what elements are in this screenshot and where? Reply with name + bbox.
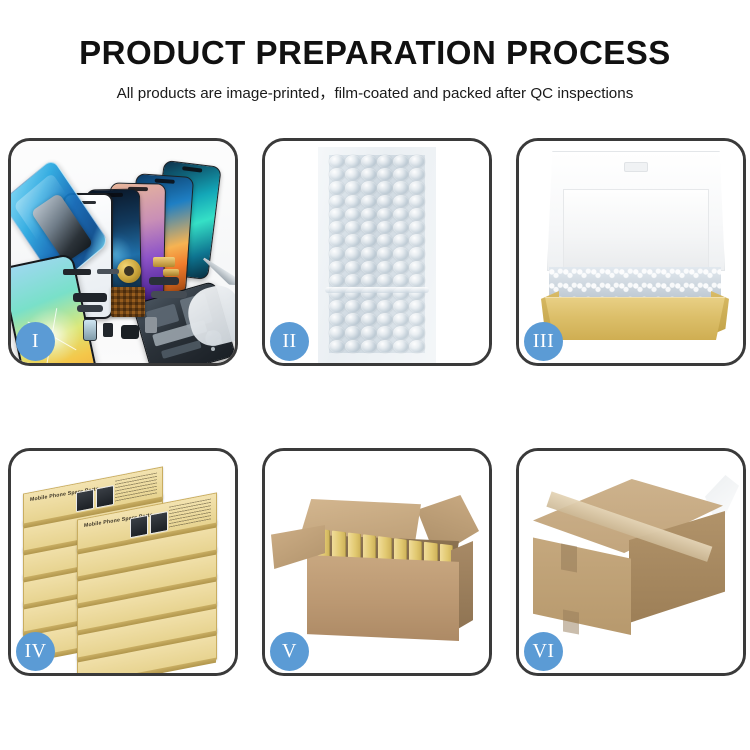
bubble: [393, 195, 409, 208]
step-badge-2: II: [270, 322, 309, 361]
bubble: [345, 313, 361, 326]
carton-body: [307, 555, 459, 641]
bubble: [393, 313, 409, 326]
bubble: [409, 261, 425, 274]
bubble: [377, 168, 393, 181]
bubble: [361, 326, 377, 339]
step-badge-4: IV: [16, 632, 55, 671]
bubble: [409, 195, 425, 208]
carton-tab: [561, 543, 577, 572]
bubble: [377, 181, 393, 194]
box-screen-artwork: [96, 485, 114, 508]
bubble: [329, 208, 345, 221]
bubble: [345, 247, 361, 260]
box-screen-artwork: [76, 489, 94, 512]
bubble: [329, 168, 345, 181]
bubble: [361, 221, 377, 234]
bubble: [345, 300, 361, 313]
bubble: [361, 313, 377, 326]
bubble: [393, 340, 409, 353]
kraft-inner-box: [545, 297, 725, 340]
box-screen-artwork: [150, 511, 168, 534]
bubble: [393, 208, 409, 221]
step-badge-3: III: [524, 322, 563, 361]
step-badge-5: V: [270, 632, 309, 671]
notch-icon: [182, 166, 202, 172]
bubble: [329, 221, 345, 234]
mesh-board-part: [111, 287, 145, 317]
step-badge-1: I: [16, 322, 55, 361]
flex-cable-part: [73, 293, 107, 302]
flex-cable-part: [77, 305, 103, 312]
bubble: [409, 326, 425, 339]
step-panel-6[interactable]: VI: [516, 448, 746, 676]
process-grid: I II III Mobile Phone Spare Par: [8, 138, 742, 678]
bubble: [377, 221, 393, 234]
page-title: PRODUCT PREPARATION PROCESS: [0, 36, 750, 69]
vibrator-coil-part: [117, 259, 141, 283]
bubble: [361, 274, 377, 287]
bubble: [329, 181, 345, 194]
step-panel-1[interactable]: I: [8, 138, 238, 366]
page-subtitle: All products are image-printed，film-coat…: [0, 86, 750, 101]
bubble: [393, 221, 409, 234]
box-screen-artwork: [130, 515, 148, 538]
bubble: [329, 340, 345, 353]
bubble: [329, 261, 345, 274]
bubble: [409, 168, 425, 181]
bubble: [377, 313, 393, 326]
button-part: [103, 323, 113, 337]
bubble: [393, 234, 409, 247]
lid-tab: [624, 162, 648, 172]
bubble-wrapped-item: [549, 267, 721, 301]
bubble: [377, 195, 393, 208]
bubble: [345, 181, 361, 194]
bubble: [329, 247, 345, 260]
bubble: [345, 261, 361, 274]
bubble: [345, 274, 361, 287]
carton-tab: [563, 609, 579, 634]
bubble: [345, 326, 361, 339]
bubble: [329, 274, 345, 287]
bubble: [409, 313, 425, 326]
bubble: [329, 195, 345, 208]
bubble: [393, 155, 409, 168]
bubble: [409, 300, 425, 313]
flex-cable-part: [149, 277, 179, 285]
bubble: [409, 247, 425, 260]
bubble: [409, 234, 425, 247]
screw-part: [211, 347, 215, 351]
bubble: [377, 155, 393, 168]
bubble: [361, 155, 377, 168]
bubble: [345, 195, 361, 208]
bubble: [393, 326, 409, 339]
bubble: [377, 340, 393, 353]
bubble: [361, 208, 377, 221]
bubble: [409, 274, 425, 287]
white-foam-sheet: [563, 189, 709, 275]
flex-cable-part: [151, 291, 187, 298]
gold-connector-part: [163, 269, 179, 276]
bubble-wrap-bubbles: [329, 155, 425, 353]
bubble: [329, 326, 345, 339]
bubble: [393, 300, 409, 313]
step-panel-2[interactable]: II: [262, 138, 492, 366]
bubble: [361, 261, 377, 274]
bubble: [393, 274, 409, 287]
wrap-seam: [325, 287, 429, 293]
speaker-bar-part: [63, 269, 91, 275]
bubble: [409, 181, 425, 194]
camera-module-part: [83, 319, 97, 341]
bubble: [361, 340, 377, 353]
bubble: [409, 340, 425, 353]
step-badge-6: VI: [524, 632, 563, 671]
bubble: [345, 155, 361, 168]
bubble: [345, 234, 361, 247]
bubble: [361, 234, 377, 247]
step-panel-5[interactable]: V: [262, 448, 492, 676]
bubble: [393, 247, 409, 260]
bubble: [329, 155, 345, 168]
bubble: [345, 221, 361, 234]
bubble: [377, 208, 393, 221]
bubble: [393, 181, 409, 194]
bubble: [377, 274, 393, 287]
bubble: [377, 300, 393, 313]
bubble: [409, 208, 425, 221]
bubble: [361, 300, 377, 313]
step-panel-3[interactable]: III: [516, 138, 746, 366]
bubble: [409, 221, 425, 234]
bubble: [377, 261, 393, 274]
bubble: [377, 326, 393, 339]
bubble: [361, 168, 377, 181]
bubble: [345, 340, 361, 353]
bubble: [393, 261, 409, 274]
bubble: [377, 234, 393, 247]
bubble: [329, 313, 345, 326]
bubble: [345, 168, 361, 181]
bubble: [329, 234, 345, 247]
step-panel-4[interactable]: Mobile Phone Spare PartsMobile Phone Spa…: [8, 448, 238, 676]
bubble: [329, 300, 345, 313]
bubble: [409, 155, 425, 168]
earpiece-part: [121, 325, 139, 339]
speaker-bar-part: [97, 269, 119, 274]
battery-part: [145, 317, 157, 333]
bubble: [361, 181, 377, 194]
header: PRODUCT PREPARATION PROCESS All products…: [0, 0, 750, 128]
bubble: [377, 247, 393, 260]
gold-connector-part: [153, 257, 175, 267]
bubble: [361, 247, 377, 260]
bubble: [345, 208, 361, 221]
bubble: [361, 195, 377, 208]
bubble: [393, 168, 409, 181]
